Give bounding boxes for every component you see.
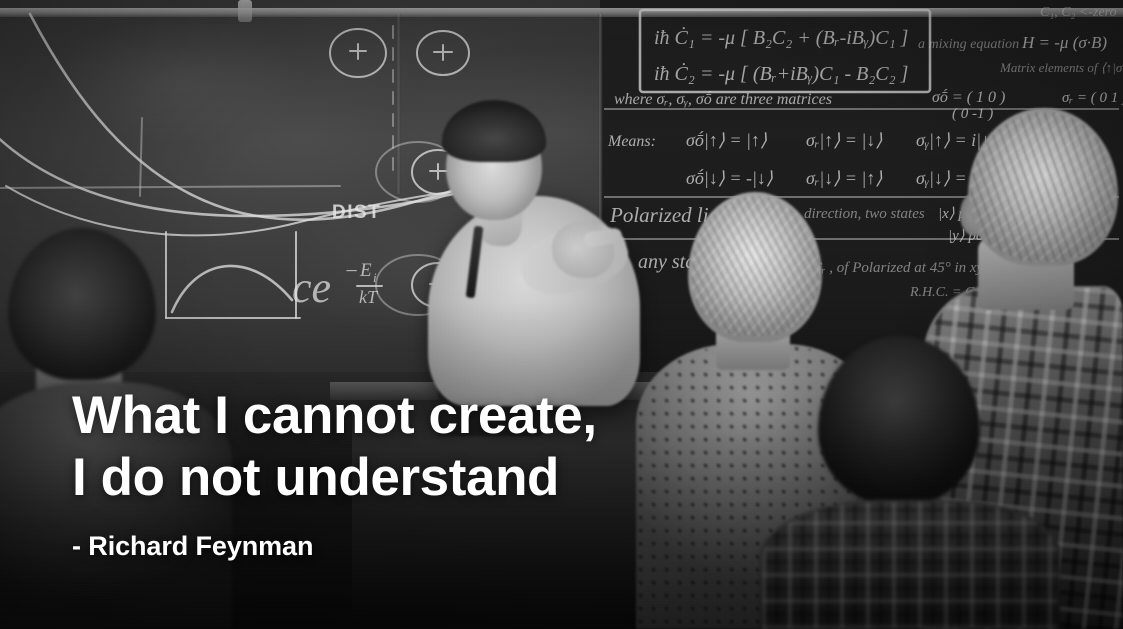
svg-text:σṓ|↓⟩ = -|↓⟩: σṓ|↓⟩ = -|↓⟩ (686, 168, 773, 188)
means-label: Means: (607, 133, 656, 150)
hamiltonian-note: H = -μ (σ·B) (1021, 33, 1107, 52)
quote-text: What I cannot create, I do not understan… (72, 385, 792, 509)
svg-text:iħ Ċ₁ = -μ [ B₂C₂ + (Bᵣ-iBᵧ)C₁: iħ Ċ₁ = -μ [ B₂C₂ + (Bᵣ-iBᵧ)C₁ ] (654, 26, 908, 49)
svg-text:−: − (344, 258, 359, 283)
quote-image: DIST ce − E i kT iħ Ċ₁ = -μ [ (0, 0, 1123, 629)
svg-text:σᵣ = ( 0 1 ): σᵣ = ( 0 1 ) (1062, 90, 1123, 106)
decay-curves-diagram (0, 14, 472, 235)
svg-text:iħ Ċ₂ = -μ [ (Bᵣ+iBᵧ)C₁ - B₂C₂: iħ Ċ₂ = -μ [ (Bᵣ+iBᵧ)C₁ - B₂C₂ ] (654, 62, 908, 85)
boltzmann-factor: ce − E i kT (292, 258, 382, 312)
matrices-note: where σᵣ, σᵧ, σṓ are three matrices (614, 90, 832, 108)
matrix-elements-note: Matrix elements of ⟨↑|σ|↓⟩ (999, 60, 1123, 75)
svg-text:ce: ce (292, 263, 331, 312)
svg-text:σᵣ|↓⟩ = |↑⟩: σᵣ|↓⟩ = |↑⟩ (806, 168, 882, 188)
svg-text:direction, two states: direction, two states (804, 206, 925, 222)
svg-text:( 0 -1 ): ( 0 -1 ) (952, 106, 993, 122)
svg-text:σṓ|↑⟩ = |↑⟩: σṓ|↑⟩ = |↑⟩ (686, 130, 767, 150)
dist-label: DIST (332, 202, 381, 223)
quote-attribution: - Richard Feynman (72, 531, 792, 562)
svg-text:σᵣ|↑⟩ = |↓⟩: σᵣ|↑⟩ = |↓⟩ (806, 130, 882, 150)
mixing-equation-note: a mixing equation (918, 37, 1019, 52)
caption-block: What I cannot create, I do not understan… (72, 385, 792, 562)
student-c-plaid-pattern (762, 502, 1058, 629)
svg-text:E: E (359, 260, 372, 281)
c-less-than-note: C₁, C₂ <-zero (1040, 5, 1117, 20)
boxed-equations: iħ Ċ₁ = -μ [ B₂C₂ + (Bᵣ-iBᵧ)C₁ ] iħ Ċ₂ =… (640, 10, 930, 92)
svg-text:σṓ = ( 1 0 ): σṓ = ( 1 0 ) (932, 88, 1005, 106)
student-d-hair-texture (970, 112, 1116, 262)
potential-well-diagram (166, 232, 300, 318)
